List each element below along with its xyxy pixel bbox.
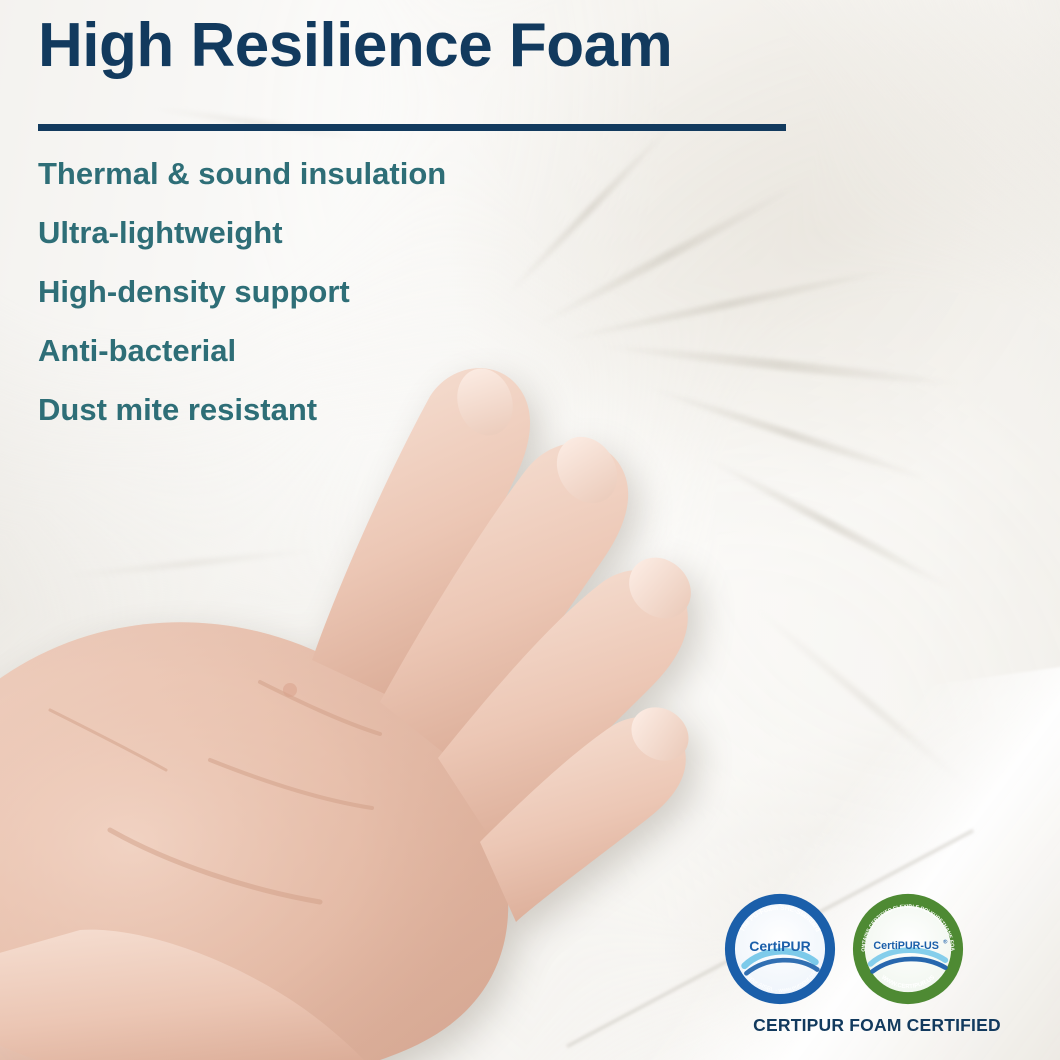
feature-item: Dust mite resistant [38, 394, 658, 425]
certipur-seal-icon: The PU-Foam SHE-Standard Europur AISBL -… [724, 893, 836, 1005]
page-title: High Resilience Foam [38, 10, 672, 81]
feature-item: Thermal & sound insulation [38, 158, 658, 189]
feature-item: High-density support [38, 276, 658, 307]
certification-badges: The PU-Foam SHE-Standard Europur AISBL -… [712, 893, 1042, 1043]
certification-caption: CERTIPUR FOAM CERTIFIED [712, 1015, 1042, 1036]
feature-item: Anti-bacterial [38, 335, 658, 366]
title-underline-rule [38, 124, 786, 131]
certipur-center-text: CertiPUR [749, 938, 810, 954]
certipur-us-seal-icon: CONTAINS CERTIFIED FLEXIBLE POLYURETHANE… [852, 893, 964, 1005]
feature-list: Thermal & sound insulation Ultra-lightwe… [38, 158, 658, 453]
hand-mole [283, 683, 297, 697]
feature-item: Ultra-lightweight [38, 217, 658, 248]
product-feature-image: High Resilience Foam Thermal & sound ins… [0, 0, 1060, 1060]
certipur-us-center-text: CertiPUR-US [873, 940, 939, 952]
